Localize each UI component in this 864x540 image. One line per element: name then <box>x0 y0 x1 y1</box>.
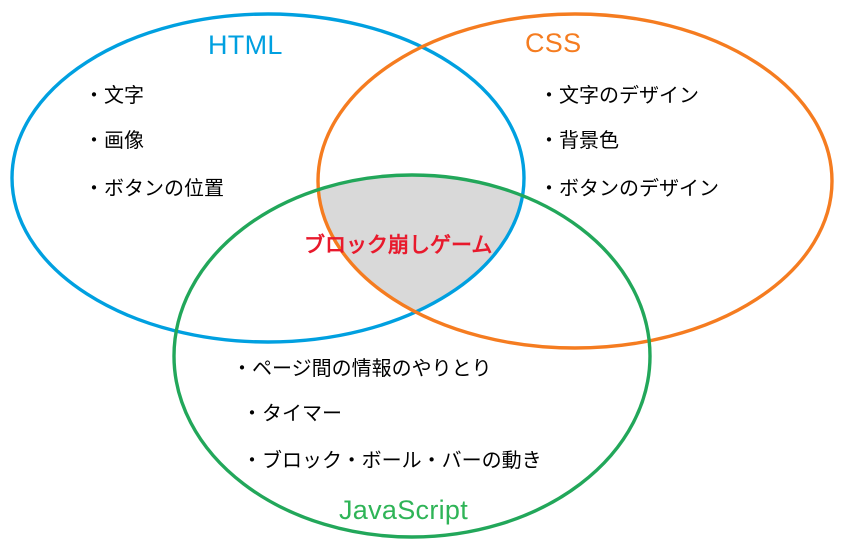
venn-diagram: HTML CSS JavaScript ・文字 ・画像 ・ボタンの位置 ・文字の… <box>0 0 864 540</box>
intersection-region-all-three <box>0 0 864 540</box>
venn-ellipses-canvas <box>0 0 864 540</box>
